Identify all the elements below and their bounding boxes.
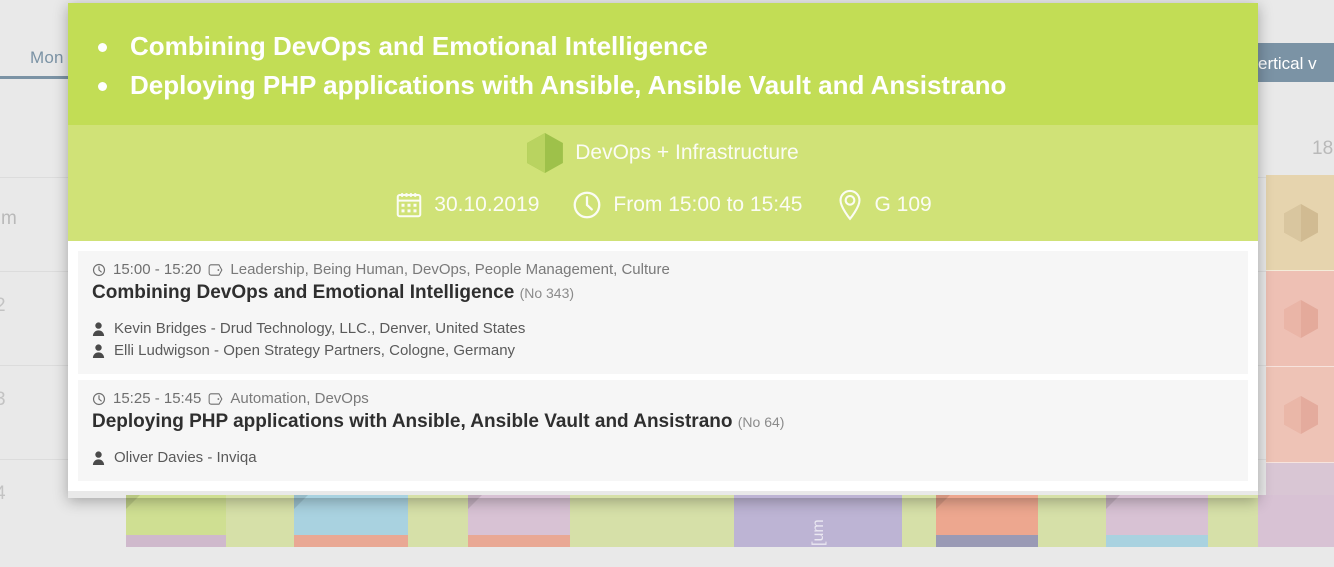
session-card[interactable]: [294, 495, 408, 547]
session-card[interactable]: [570, 495, 734, 547]
session-tags: Leadership, Being Human, DevOps, People …: [230, 261, 669, 278]
session-number: (No 343): [520, 285, 574, 301]
hexagon-icon: [1284, 396, 1318, 434]
person-icon: [92, 344, 105, 358]
location-pin-icon: [835, 189, 865, 221]
session-card[interactable]: [1258, 495, 1334, 547]
session-title-row: Deploying PHP applications with Ansible,…: [92, 409, 1234, 435]
headline-item: Deploying PHP applications with Ansible,…: [68, 66, 1258, 105]
session-entry[interactable]: 15:25 - 15:45 Automation, DevOps Deployi…: [78, 380, 1248, 481]
room-label-auditorium: torium: [0, 208, 17, 230]
session-card[interactable]: [1208, 495, 1258, 547]
speaker-name: Elli Ludwigson - Open Strategy Partners,…: [114, 340, 515, 362]
speaker-row: Elli Ludwigson - Open Strategy Partners,…: [92, 340, 1234, 362]
popup-meta-block: DevOps + Infrastructure 30.10.2019: [68, 125, 1258, 241]
session-card[interactable]: [1038, 495, 1106, 547]
hour-label: 2: [0, 295, 6, 317]
hexagon-icon: [1284, 204, 1318, 242]
session-card[interactable]: [126, 495, 226, 547]
speaker-row: Oliver Davies - Inviqa: [92, 447, 1234, 469]
session-card[interactable]: [408, 495, 468, 547]
session-detail-popup[interactable]: Combining DevOps and Emotional Intellige…: [68, 3, 1258, 498]
session-card[interactable]: [1266, 271, 1334, 367]
headline-item: Combining DevOps and Emotional Intellige…: [68, 27, 1258, 66]
bottom-session-row: [0, 495, 1334, 547]
date-value: 30.10.2019: [434, 193, 539, 217]
meta-row: 30.10.2019 From 15:00 to 15:45: [68, 189, 1258, 221]
session-card[interactable]: [1266, 175, 1334, 271]
hour-label-18: 18: [1312, 138, 1333, 160]
hour-label: 3: [0, 389, 6, 411]
rotated-room-label: [um: [810, 500, 856, 546]
session-time: 15:00 - 15:20: [113, 261, 201, 278]
date-item: 30.10.2019: [394, 190, 539, 220]
session-tags: Automation, DevOps: [230, 390, 368, 407]
tag-icon: [208, 392, 223, 406]
person-icon: [92, 451, 105, 465]
tab-monday[interactable]: Mon: [30, 48, 64, 68]
session-card[interactable]: [902, 495, 936, 547]
track-row: DevOps + Infrastructure: [68, 133, 1258, 173]
person-icon: [92, 322, 105, 336]
clock-icon: [92, 392, 106, 406]
speaker-name: Kevin Bridges - Drud Technology, LLC., D…: [114, 318, 525, 340]
footer-strip: [0, 547, 1334, 567]
hexagon-icon: [1284, 300, 1318, 338]
time-item: From 15:00 to 15:45: [571, 189, 802, 221]
popup-headline-block: Combining DevOps and Emotional Intellige…: [68, 3, 1258, 125]
session-meta: 15:00 - 15:20 Leadership, Being Human, D…: [92, 261, 1234, 278]
session-meta: 15:25 - 15:45 Automation, DevOps: [92, 390, 1234, 407]
session-entry[interactable]: 15:00 - 15:20 Leadership, Being Human, D…: [78, 251, 1248, 374]
track-name: DevOps + Infrastructure: [575, 141, 799, 165]
calendar-icon: [394, 190, 424, 220]
room-item: G 109: [835, 189, 932, 221]
room-value: G 109: [875, 193, 932, 217]
session-card[interactable]: [226, 495, 294, 547]
session-card[interactable]: [1266, 367, 1334, 463]
speaker-name: Oliver Davies - Inviqa: [114, 447, 257, 469]
clock-icon: [571, 189, 603, 221]
session-title-row: Combining DevOps and Emotional Intellige…: [92, 280, 1234, 306]
speaker-list: Kevin Bridges - Drud Technology, LLC., D…: [92, 318, 1234, 362]
headline-list: Combining DevOps and Emotional Intellige…: [68, 27, 1258, 105]
session-title: Deploying PHP applications with Ansible,…: [92, 411, 732, 432]
popup-session-list: 15:00 - 15:20 Leadership, Being Human, D…: [68, 241, 1258, 491]
session-number: (No 64): [738, 414, 785, 430]
session-card[interactable]: [468, 495, 570, 547]
session-title: Combining DevOps and Emotional Intellige…: [92, 282, 514, 303]
session-time: 15:25 - 15:45: [113, 390, 201, 407]
vertical-view-button[interactable]: ertical v: [1248, 43, 1334, 85]
speaker-list: Oliver Davies - Inviqa: [92, 447, 1234, 469]
tag-icon: [208, 263, 223, 277]
speaker-row: Kevin Bridges - Drud Technology, LLC., D…: [92, 318, 1234, 340]
session-card[interactable]: [1106, 495, 1208, 547]
hexagon-icon: [527, 133, 563, 173]
time-value: From 15:00 to 15:45: [613, 193, 802, 217]
clock-icon: [92, 263, 106, 277]
session-card[interactable]: [936, 495, 1038, 547]
